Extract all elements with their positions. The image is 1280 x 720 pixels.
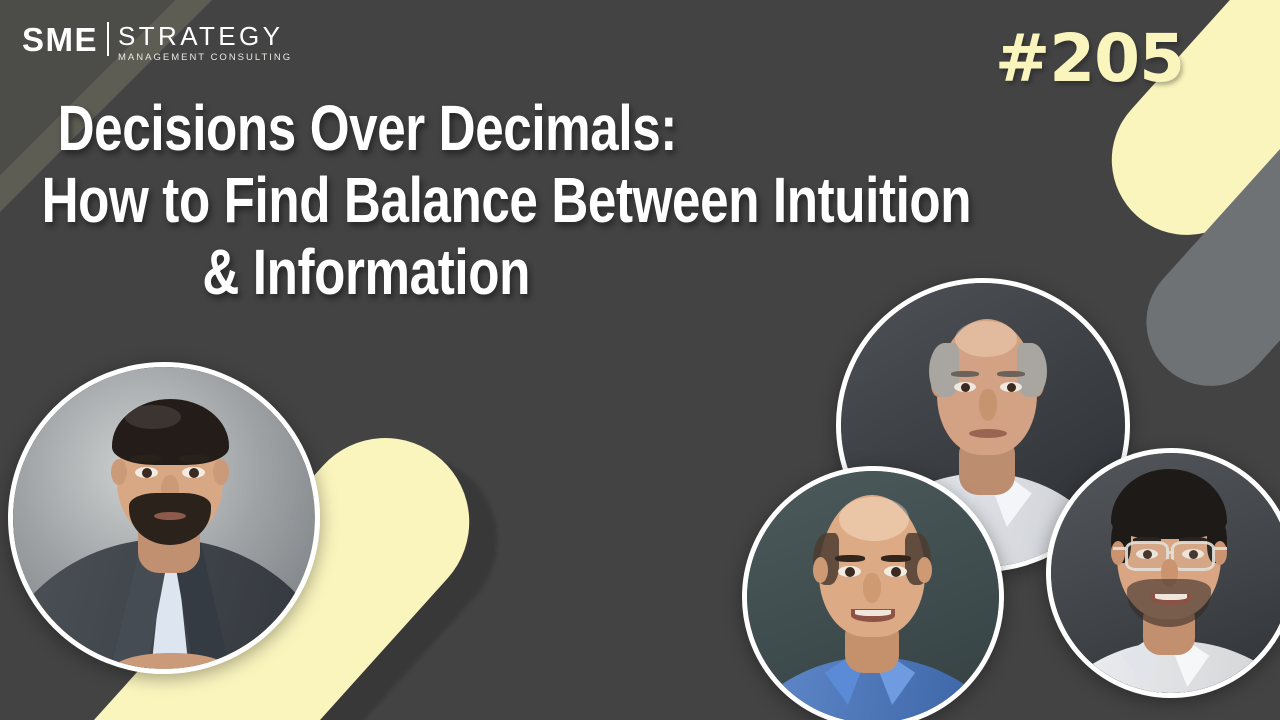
guest-2-pupil-right <box>1007 383 1016 392</box>
guest-2-brow-right <box>997 371 1025 377</box>
episode-number-badge: #205 <box>995 26 1184 92</box>
guest-2-pupil-left <box>961 383 970 392</box>
guest-4-glasses-temple-left <box>1113 547 1126 550</box>
guest-4-teeth <box>1155 594 1187 600</box>
logo-sme-text: SME <box>22 22 98 56</box>
episode-title: Decisions Over Decimals: How to Find Bal… <box>0 96 1200 306</box>
guest-1-pupil-right <box>189 468 199 478</box>
guest-2-mouth <box>969 429 1007 438</box>
guest-2-crown-highlight <box>955 321 1017 357</box>
guest-2-brow-left <box>951 371 979 377</box>
guest-1-brow-left <box>131 455 161 462</box>
guest-4-glasses-bridge <box>1167 551 1174 554</box>
logo-tagline-text: MANAGEMENT CONSULTING <box>118 52 292 63</box>
logo-divider-rule <box>107 22 109 56</box>
title-line-1: Decisions Over Decimals: <box>0 96 960 162</box>
guest-3-nose <box>863 573 881 603</box>
guest-4-glasses-lens-right <box>1171 541 1215 571</box>
guest-3-brow-right <box>881 555 911 562</box>
guest-photo-3 <box>742 466 1004 720</box>
guest-3-crown-highlight <box>839 497 909 541</box>
guest-photo-1 <box>8 362 320 674</box>
guest-1-hair-sheen <box>125 405 181 429</box>
title-line-2: How to Find Balance Between Intuition <box>0 168 960 234</box>
guest-1-ear-right <box>213 459 229 485</box>
guest-3-pupil-left <box>845 567 855 577</box>
guest-1-brow-right <box>179 455 209 462</box>
brand-logo: SME STRATEGY MANAGEMENT CONSULTING <box>22 22 292 63</box>
guest-1-pupil-left <box>142 468 152 478</box>
guest-4-ear-left <box>1111 541 1125 565</box>
title-line-3: & Information <box>0 240 960 306</box>
guest-4-ear-right <box>1213 541 1227 565</box>
guest-3-ear-left <box>813 557 828 583</box>
guest-3-pupil-right <box>891 567 901 577</box>
guest-3-teeth <box>855 610 891 616</box>
guest-3-ear-right <box>917 557 932 583</box>
logo-strategy-text: STRATEGY <box>118 23 292 50</box>
guest-4-glasses-temple-right <box>1214 547 1227 550</box>
guest-photo-4 <box>1046 448 1280 698</box>
guest-1-ear-left <box>111 459 127 485</box>
guest-2-hair-right <box>1017 343 1047 397</box>
guest-1-mouth <box>154 512 186 520</box>
guest-3-brow-left <box>835 555 865 562</box>
guest-2-nose <box>979 389 997 421</box>
podcast-thumbnail: SME STRATEGY MANAGEMENT CONSULTING #205 … <box>0 0 1280 720</box>
